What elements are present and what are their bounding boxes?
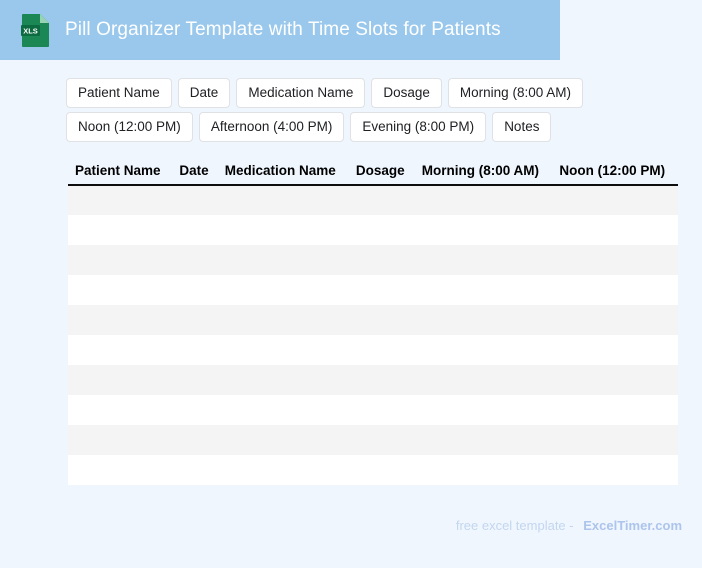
table-cell[interactable]: [349, 185, 415, 215]
table-cell[interactable]: [172, 395, 217, 425]
chip-patient-name[interactable]: Patient Name: [66, 78, 172, 108]
table-cell[interactable]: [415, 245, 553, 275]
table-cell[interactable]: [218, 455, 349, 485]
column-header-dosage[interactable]: Dosage: [349, 161, 415, 185]
table-cell[interactable]: [68, 425, 172, 455]
table-cell[interactable]: [218, 335, 349, 365]
chip-medication-name[interactable]: Medication Name: [236, 78, 365, 108]
table-body: [68, 185, 678, 485]
table-cell[interactable]: [172, 305, 217, 335]
table-row[interactable]: [68, 365, 678, 395]
table-cell[interactable]: [415, 275, 553, 305]
table-cell[interactable]: [415, 335, 553, 365]
chip-noon[interactable]: Noon (12:00 PM): [66, 112, 193, 142]
table-cell[interactable]: [415, 305, 553, 335]
table-cell[interactable]: [218, 215, 349, 245]
table-cell[interactable]: [552, 335, 678, 365]
table-cell[interactable]: [218, 425, 349, 455]
table-cell[interactable]: [349, 395, 415, 425]
footer-credit: free excel template - ExcelTimer.com: [456, 518, 682, 533]
table-cell[interactable]: [218, 395, 349, 425]
column-header-medication-name[interactable]: Medication Name: [218, 161, 349, 185]
table-row[interactable]: [68, 425, 678, 455]
table-cell[interactable]: [552, 395, 678, 425]
table-cell[interactable]: [415, 425, 553, 455]
table-row[interactable]: [68, 455, 678, 485]
footer-credit-text: free excel template -: [456, 518, 574, 533]
table-cell[interactable]: [415, 365, 553, 395]
table-header: Patient Name Date Medication Name Dosage…: [68, 161, 678, 185]
table-cell[interactable]: [68, 455, 172, 485]
table-cell[interactable]: [552, 365, 678, 395]
chip-notes[interactable]: Notes: [492, 112, 551, 142]
header-banner: XLS Pill Organizer Template with Time Sl…: [0, 0, 560, 60]
table-cell[interactable]: [172, 365, 217, 395]
table-cell[interactable]: [68, 305, 172, 335]
table-row[interactable]: [68, 305, 678, 335]
table-cell[interactable]: [68, 185, 172, 215]
table-cell[interactable]: [415, 455, 553, 485]
table-cell[interactable]: [172, 275, 217, 305]
table-cell[interactable]: [218, 185, 349, 215]
table-cell[interactable]: [349, 365, 415, 395]
table-cell[interactable]: [415, 185, 553, 215]
table-cell[interactable]: [218, 275, 349, 305]
column-header-date[interactable]: Date: [172, 161, 217, 185]
column-chip-group: Patient Name Date Medication Name Dosage…: [66, 78, 666, 146]
chip-afternoon[interactable]: Afternoon (4:00 PM): [199, 112, 345, 142]
template-data-table: Patient Name Date Medication Name Dosage…: [68, 161, 678, 485]
table-row[interactable]: [68, 275, 678, 305]
table-cell[interactable]: [349, 455, 415, 485]
chip-row: Patient Name Date Medication Name Dosage…: [66, 78, 666, 108]
table-cell[interactable]: [218, 365, 349, 395]
table-cell[interactable]: [218, 245, 349, 275]
chip-morning[interactable]: Morning (8:00 AM): [448, 78, 583, 108]
table-cell[interactable]: [349, 245, 415, 275]
table-cell[interactable]: [172, 215, 217, 245]
table-cell[interactable]: [552, 185, 678, 215]
table-cell[interactable]: [68, 275, 172, 305]
table-cell[interactable]: [172, 245, 217, 275]
table-cell[interactable]: [68, 365, 172, 395]
table-row[interactable]: [68, 215, 678, 245]
chip-dosage[interactable]: Dosage: [371, 78, 442, 108]
table-cell[interactable]: [172, 455, 217, 485]
table-cell[interactable]: [68, 245, 172, 275]
table-row[interactable]: [68, 395, 678, 425]
table-row[interactable]: [68, 335, 678, 365]
table-row[interactable]: [68, 245, 678, 275]
column-header-noon[interactable]: Noon (12:00 PM): [552, 161, 678, 185]
table-cell[interactable]: [172, 335, 217, 365]
chip-date[interactable]: Date: [178, 78, 231, 108]
table-cell[interactable]: [349, 335, 415, 365]
table-cell[interactable]: [68, 335, 172, 365]
table-header-row: Patient Name Date Medication Name Dosage…: [68, 161, 678, 185]
column-header-morning[interactable]: Morning (8:00 AM): [415, 161, 553, 185]
page-title: Pill Organizer Template with Time Slots …: [65, 19, 501, 41]
table-cell[interactable]: [552, 275, 678, 305]
table-cell[interactable]: [552, 305, 678, 335]
table-cell[interactable]: [415, 395, 553, 425]
table-cell[interactable]: [172, 185, 217, 215]
column-header-patient-name[interactable]: Patient Name: [68, 161, 172, 185]
table-cell[interactable]: [218, 305, 349, 335]
table-cell[interactable]: [552, 245, 678, 275]
chip-row: Noon (12:00 PM) Afternoon (4:00 PM) Even…: [66, 112, 666, 142]
svg-text:XLS: XLS: [23, 26, 38, 35]
table-cell[interactable]: [552, 215, 678, 245]
table-cell[interactable]: [172, 425, 217, 455]
table-cell[interactable]: [415, 215, 553, 245]
table-cell[interactable]: [552, 425, 678, 455]
table-cell[interactable]: [349, 215, 415, 245]
table-cell[interactable]: [349, 425, 415, 455]
xls-file-icon: XLS: [21, 13, 51, 47]
table-row[interactable]: [68, 185, 678, 215]
table-cell[interactable]: [552, 455, 678, 485]
table-cell[interactable]: [68, 395, 172, 425]
table-cell[interactable]: [349, 275, 415, 305]
table-cell[interactable]: [68, 215, 172, 245]
footer-credit-brand[interactable]: ExcelTimer.com: [583, 518, 682, 533]
table-cell[interactable]: [349, 305, 415, 335]
chip-evening[interactable]: Evening (8:00 PM): [350, 112, 486, 142]
